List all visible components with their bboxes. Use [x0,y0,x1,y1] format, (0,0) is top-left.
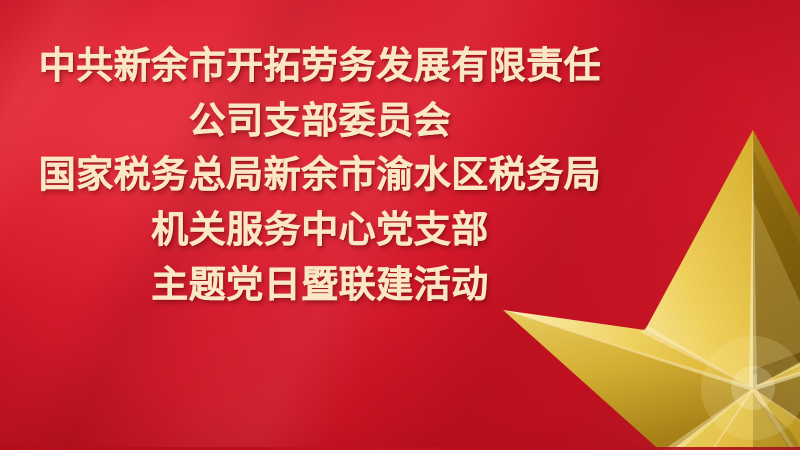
headline-block: 中共新余市开拓劳务发展有限责任 公司支部委员会 国家税务总局新余市渝水区税务局 … [0,0,640,450]
headline-line-1: 中共新余市开拓劳务发展有限责任 [39,47,602,84]
headline-line-3: 国家税务总局新余市渝水区税务局 [39,156,602,193]
headline-line-5: 主题党日暨联建活动 [151,266,489,303]
party-banner: 中共新余市开拓劳务发展有限责任 公司支部委员会 国家税务总局新余市渝水区税务局 … [0,0,800,450]
headline-line-4: 机关服务中心党支部 [151,211,489,248]
headline-line-2: 公司支部委员会 [189,102,452,139]
